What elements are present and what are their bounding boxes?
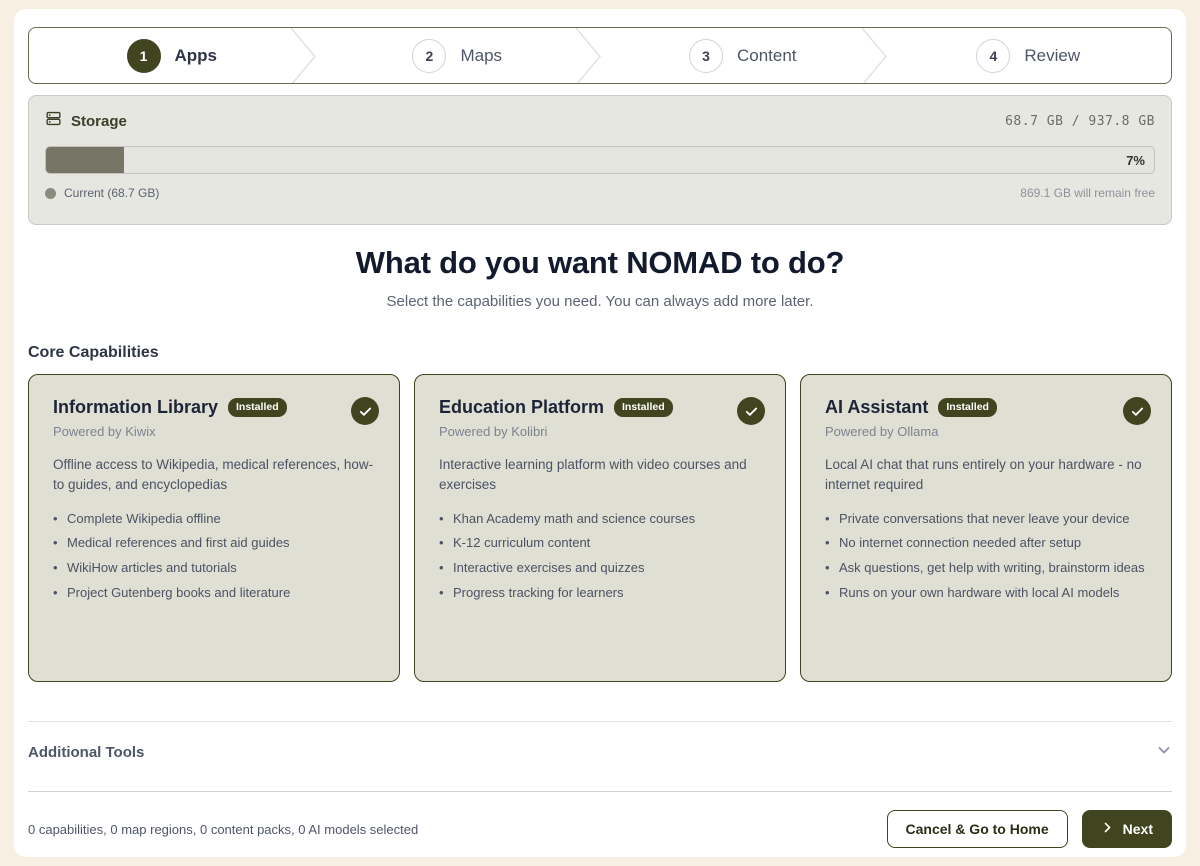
step-divider-2 [575,28,601,83]
card-header: Education Platform Installed [439,397,763,418]
card-description: Interactive learning platform with video… [439,455,763,496]
list-item: Runs on your own hardware with local AI … [825,584,1149,603]
list-item: No internet connection needed after setu… [825,534,1149,553]
step-content[interactable]: 3 Content [600,28,886,83]
hero-section: What do you want NOMAD to do? Select the… [14,245,1186,310]
app-window: 1 Apps 2 Maps 3 Content 4 Review [14,9,1186,857]
step-apps-label: Apps [175,46,218,66]
footer-divider [28,791,1172,792]
storage-amount: 68.7 GB / 937.8 GB [1005,114,1155,129]
cancel-go-home-button[interactable]: Cancel & Go to Home [887,810,1068,848]
card-description: Local AI chat that runs entirely on your… [825,455,1149,496]
card-description: Offline access to Wikipedia, medical ref… [53,455,377,496]
additional-tools-accordion[interactable]: Additional Tools [28,721,1172,783]
storage-progress-bar: 7% [45,146,1155,174]
wizard-footer: 0 capabilities, 0 map regions, 0 content… [28,804,1172,854]
storage-progress-fill [46,147,124,173]
step-content-label: Content [737,46,797,66]
capability-card-information-library[interactable]: Information Library Installed Powered by… [28,374,400,682]
card-header: Information Library Installed [53,397,377,418]
storage-legend: Current (68.7 GB) [45,186,159,200]
list-item: K-12 curriculum content [439,534,763,553]
step-apps[interactable]: 1 Apps [29,28,315,83]
card-title: AI Assistant [825,397,928,418]
storage-header: Storage 68.7 GB / 937.8 GB [45,110,1155,132]
storage-title: Storage [71,113,127,130]
chevron-down-icon[interactable] [1156,742,1172,763]
card-feature-list: Complete Wikipedia offline Medical refer… [53,510,377,604]
card-header: AI Assistant Installed [825,397,1149,418]
storage-percent-label: 7% [1126,147,1145,173]
footer-actions: Cancel & Go to Home Next [887,810,1173,848]
storage-panel: Storage 68.7 GB / 937.8 GB 7% Current (6… [28,95,1172,225]
card-subtitle: Powered by Ollama [825,424,1149,439]
step-apps-number: 1 [127,39,161,73]
storage-legend-label: Current (68.7 GB) [64,186,159,200]
step-divider-1 [290,28,316,83]
storage-footer: Current (68.7 GB) 869.1 GB will remain f… [45,186,1155,200]
server-icon [45,110,62,132]
next-button[interactable]: Next [1082,810,1172,848]
check-circle-icon[interactable] [1123,397,1151,425]
step-divider-3 [861,28,887,83]
step-content-number: 3 [689,39,723,73]
wizard-stepper: 1 Apps 2 Maps 3 Content 4 Review [28,27,1172,84]
status-badge: Installed [938,398,997,417]
status-badge: Installed [614,398,673,417]
step-review-label: Review [1024,46,1080,66]
page-subtitle: Select the capabilities you need. You ca… [14,293,1186,310]
step-review-number: 4 [976,39,1010,73]
capability-card-education-platform[interactable]: Education Platform Installed Powered by … [414,374,786,682]
next-button-label: Next [1123,821,1153,837]
list-item: WikiHow articles and tutorials [53,559,377,578]
card-title: Education Platform [439,397,604,418]
step-maps-label: Maps [460,46,502,66]
selection-summary: 0 capabilities, 0 map regions, 0 content… [28,822,418,837]
list-item: Progress tracking for learners [439,584,763,603]
card-title: Information Library [53,397,218,418]
list-item: Interactive exercises and quizzes [439,559,763,578]
list-item: Medical references and first aid guides [53,534,377,553]
chevron-right-icon [1101,821,1114,837]
list-item: Complete Wikipedia offline [53,510,377,529]
step-review[interactable]: 4 Review [886,28,1172,83]
list-item: Ask questions, get help with writing, br… [825,559,1149,578]
check-circle-icon[interactable] [351,397,379,425]
check-circle-icon[interactable] [737,397,765,425]
step-maps-number: 2 [412,39,446,73]
storage-title-group: Storage [45,110,127,132]
step-maps[interactable]: 2 Maps [315,28,601,83]
page-title: What do you want NOMAD to do? [14,245,1186,281]
list-item: Project Gutenberg books and literature [53,584,377,603]
status-badge: Installed [228,398,287,417]
card-subtitle: Powered by Kolibri [439,424,763,439]
core-capabilities-heading: Core Capabilities [28,344,159,362]
card-feature-list: Khan Academy math and science courses K-… [439,510,763,604]
list-item: Khan Academy math and science courses [439,510,763,529]
list-item: Private conversations that never leave y… [825,510,1149,529]
legend-dot-icon [45,188,56,199]
card-subtitle: Powered by Kiwix [53,424,377,439]
card-feature-list: Private conversations that never leave y… [825,510,1149,604]
capability-card-ai-assistant[interactable]: AI Assistant Installed Powered by Ollama… [800,374,1172,682]
capability-card-list: Information Library Installed Powered by… [28,374,1172,682]
storage-free-note: 869.1 GB will remain free [1020,186,1155,200]
additional-tools-label: Additional Tools [28,744,144,761]
